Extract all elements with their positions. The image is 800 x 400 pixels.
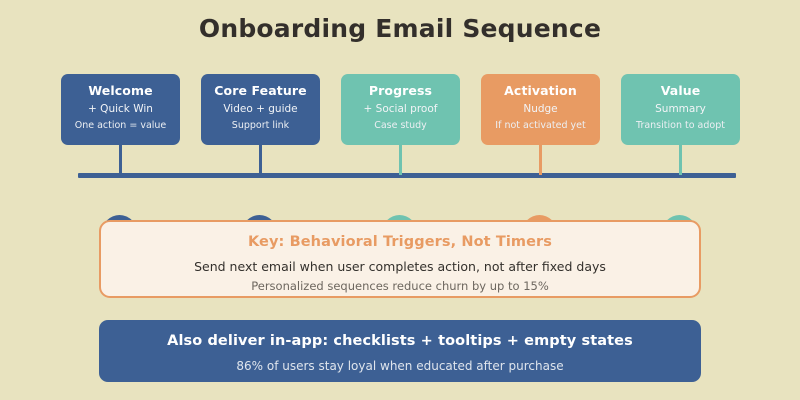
stage-connector-stem — [119, 145, 122, 175]
bottom-banner-subtitle: 86% of users stay loyal when educated af… — [99, 358, 701, 375]
key-callout-title: Key: Behavioral Triggers, Not Timers — [101, 233, 699, 252]
stage-subtitle-primary: Nudge — [481, 102, 600, 117]
stage-subtitle-secondary: If not activated yet — [481, 119, 600, 133]
stage-title: Progress — [341, 83, 460, 98]
stage-connector-stem — [679, 145, 682, 175]
timeline-section: Welcome + Quick Win One action = value D… — [0, 0, 800, 200]
bottom-banner-title: Also deliver in-app: checklists + toolti… — [99, 332, 701, 351]
stage-card[interactable]: Value Summary Transition to adopt — [621, 74, 740, 145]
bottom-banner: Also deliver in-app: checklists + toolti… — [99, 320, 701, 382]
timeline-stage: Value Summary Transition to adopt D14 — [621, 74, 740, 145]
stage-title: Activation — [481, 83, 600, 98]
timeline-axis-bar — [78, 173, 736, 178]
stage-subtitle-primary: + Quick Win — [61, 102, 180, 117]
stage-subtitle-primary: + Social proof — [341, 102, 460, 117]
stage-subtitle-primary: Video + guide — [201, 102, 320, 117]
stage-connector-stem — [259, 145, 262, 175]
stage-card[interactable]: Progress + Social proof Case study — [341, 74, 460, 145]
stage-connector-stem — [539, 145, 542, 175]
timeline-stage: Welcome + Quick Win One action = value D… — [61, 74, 180, 145]
timeline-stage: Progress + Social proof Case study D5 — [341, 74, 460, 145]
timeline-stage: Core Feature Video + guide Support link … — [201, 74, 320, 145]
stage-subtitle-secondary: Case study — [341, 119, 460, 133]
key-callout-line-primary: Send next email when user completes acti… — [101, 258, 699, 275]
stage-title: Welcome — [61, 83, 180, 98]
key-callout-line-secondary: Personalized sequences reduce churn by u… — [101, 278, 699, 294]
stage-card[interactable]: Welcome + Quick Win One action = value — [61, 74, 180, 145]
stage-subtitle-secondary: One action = value — [61, 119, 180, 133]
infographic-root: Onboarding Email Sequence Welcome + Quic… — [0, 0, 800, 400]
stage-card[interactable]: Core Feature Video + guide Support link — [201, 74, 320, 145]
stage-subtitle-secondary: Support link — [201, 119, 320, 133]
stage-card[interactable]: Activation Nudge If not activated yet — [481, 74, 600, 145]
stage-subtitle-secondary: Transition to adopt — [621, 119, 740, 133]
stage-title: Value — [621, 83, 740, 98]
key-callout-box: Key: Behavioral Triggers, Not Timers Sen… — [99, 220, 701, 298]
stage-connector-stem — [399, 145, 402, 175]
stage-title: Core Feature — [201, 83, 320, 98]
stage-subtitle-primary: Summary — [621, 102, 740, 117]
timeline-stage: Activation Nudge If not activated yet D7 — [481, 74, 600, 145]
